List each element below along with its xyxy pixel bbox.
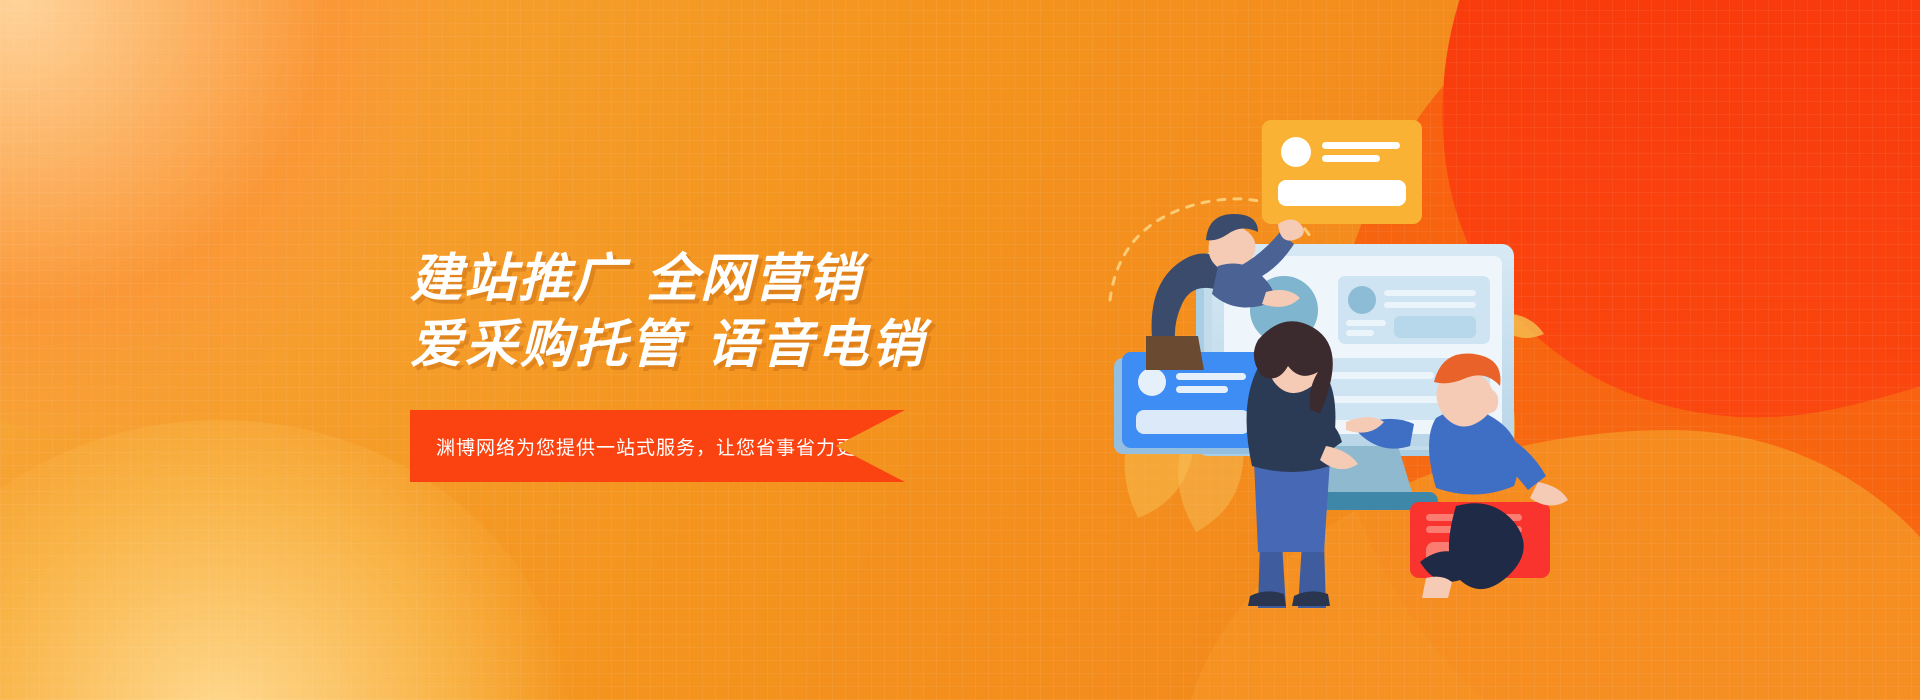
hero-illustration xyxy=(1090,110,1610,610)
headline-line-2: 爱采购托管 语音电销 xyxy=(410,312,926,378)
yellow-profile-card xyxy=(1262,120,1422,224)
tagline-text: 渊博网络为您提供一站式服务，让您省事省力更省心 xyxy=(410,433,896,460)
tagline-ribbon: 渊博网络为您提供一站式服务，让您省事省力更省心 xyxy=(410,410,905,482)
screen-card-profile xyxy=(1338,276,1490,344)
headline-block: 建站推广 全网营销 爱采购托管 语音电销 xyxy=(410,246,926,378)
hero-banner: 建站推广 全网营销 爱采购托管 语音电销 渊博网络为您提供一站式服务，让您省事省… xyxy=(0,0,1920,700)
headline-line-1: 建站推广 全网营销 xyxy=(410,246,926,312)
